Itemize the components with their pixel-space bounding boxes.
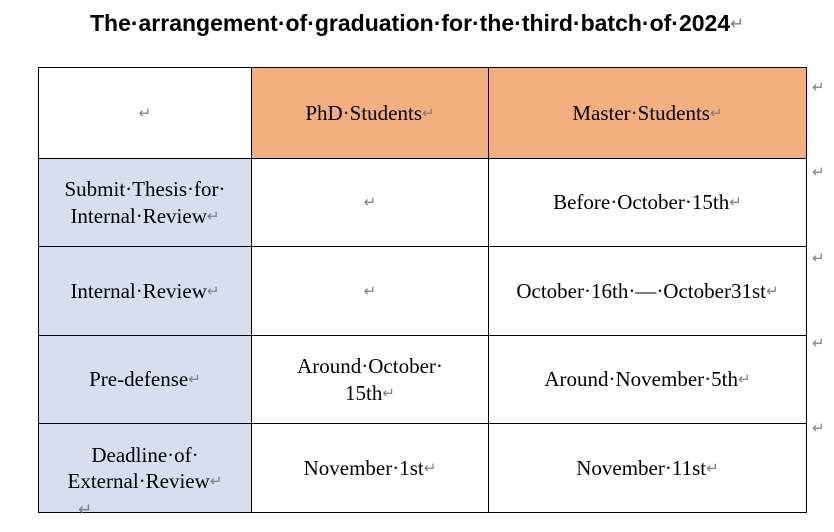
cell-master-deadline-external-review[interactable]: November·11st↵ [489, 424, 807, 513]
cell-task-internal-review-text: Internal·Review [70, 279, 206, 303]
paragraph-mark-icon: ↵ [706, 460, 719, 477]
paragraph-mark-icon: ↵ [188, 372, 201, 389]
paragraph-mark-icon: ↵ [424, 460, 437, 477]
cell-phd-deadline-external-review-text: November·1st [304, 456, 424, 480]
header-cell-master-students-text: Master·Students [572, 101, 710, 125]
row-end-mark-icon: ↵ [812, 163, 825, 181]
cell-master-submit-thesis[interactable]: Before·October·15th↵ [489, 159, 807, 247]
cell-phd-internal-review[interactable]: ↵ [252, 247, 489, 336]
table-row: Deadline·of· External·Review↵ November·1… [39, 424, 807, 513]
cell-master-internal-review-text: October·16th·—·October31st [516, 279, 766, 303]
cell-master-pre-defense[interactable]: Around·November·5th↵ [489, 336, 807, 424]
table-header-row: ↵ PhD·Students↵ Master·Students↵ [39, 68, 807, 159]
table-row: Internal·Review↵ ↵ October·16th·—·Octobe… [39, 247, 807, 336]
cell-phd-submit-thesis[interactable]: ↵ [252, 159, 489, 247]
row-end-mark-icon: ↵ [812, 419, 825, 437]
page-title-text: The·arrangement·of·graduation·for·the·th… [90, 10, 730, 36]
paragraph-mark-icon: ↵ [422, 105, 435, 122]
paragraph-mark-icon: ↵ [710, 105, 723, 122]
trailing-paragraph-mark-icon: ↵ [78, 500, 92, 520]
cell-master-internal-review[interactable]: October·16th·—·October31st↵ [489, 247, 807, 336]
row-end-mark-icon: ↵ [812, 334, 825, 352]
cell-master-pre-defense-text: Around·November·5th [544, 367, 738, 391]
cell-task-submit-thesis[interactable]: Submit·Thesis·for· Internal·Review↵ [39, 159, 252, 247]
header-cell-master-students[interactable]: Master·Students↵ [489, 68, 807, 159]
paragraph-mark-icon: ↵ [139, 105, 152, 122]
header-cell-task[interactable]: ↵ [39, 68, 252, 159]
table-row: Pre-defense↵ Around·October· 15th↵ Aroun… [39, 336, 807, 424]
paragraph-mark-icon: ↵ [730, 14, 744, 33]
cell-task-internal-review[interactable]: Internal·Review↵ [39, 247, 252, 336]
page-title: The·arrangement·of·graduation·for·the·th… [0, 10, 834, 37]
paragraph-mark-icon: ↵ [364, 283, 377, 300]
header-cell-phd-students[interactable]: PhD·Students↵ [252, 68, 489, 159]
cell-phd-pre-defense-text: Around·October· 15th [297, 354, 443, 404]
cell-master-deadline-external-review-text: November·11st [576, 456, 706, 480]
paragraph-mark-icon: ↵ [729, 195, 742, 212]
table-row: Submit·Thesis·for· Internal·Review↵ ↵ Be… [39, 159, 807, 247]
cell-task-deadline-external-review-text: Deadline·of· External·Review [68, 443, 210, 493]
paragraph-mark-icon: ↵ [364, 195, 377, 212]
paragraph-mark-icon: ↵ [210, 473, 223, 490]
row-end-mark-icon: ↵ [812, 249, 825, 267]
cell-task-deadline-external-review[interactable]: Deadline·of· External·Review↵ [39, 424, 252, 513]
row-end-mark-icon: ↵ [812, 78, 825, 96]
paragraph-mark-icon: ↵ [382, 385, 395, 402]
cell-phd-pre-defense[interactable]: Around·October· 15th↵ [252, 336, 489, 424]
cell-master-submit-thesis-text: Before·October·15th [553, 190, 729, 214]
paragraph-mark-icon: ↵ [738, 372, 751, 389]
cell-task-submit-thesis-text: Submit·Thesis·for· Internal·Review [65, 177, 226, 227]
paragraph-mark-icon: ↵ [766, 283, 779, 300]
cell-phd-deadline-external-review[interactable]: November·1st↵ [252, 424, 489, 513]
paragraph-mark-icon: ↵ [207, 283, 220, 300]
cell-task-pre-defense[interactable]: Pre-defense↵ [39, 336, 252, 424]
paragraph-mark-icon: ↵ [207, 208, 220, 225]
graduation-schedule-table: ↵ PhD·Students↵ Master·Students↵ Submit·… [38, 67, 807, 513]
header-cell-phd-students-text: PhD·Students [305, 101, 422, 125]
cell-task-pre-defense-text: Pre-defense [89, 367, 188, 391]
